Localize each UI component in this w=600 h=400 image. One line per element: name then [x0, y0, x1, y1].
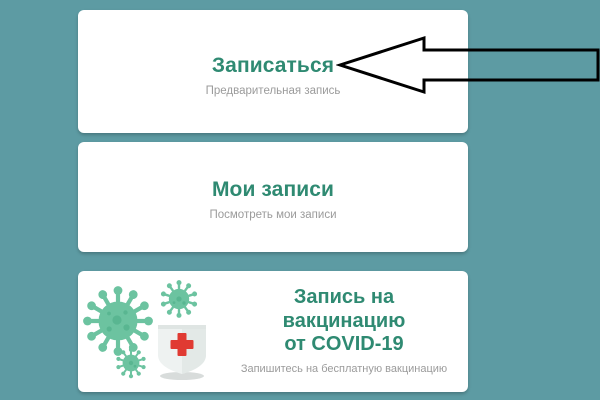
card-my-appointments-text: Мои записи Посмотреть мои записи — [78, 178, 468, 222]
covid-illustration-svg — [78, 273, 226, 391]
card-appointment[interactable]: Записаться Предварительная запись — [78, 10, 468, 133]
card-my-appointments-subtitle: Посмотреть мои записи — [78, 209, 468, 223]
virus-large-icon — [83, 286, 153, 356]
card-covid-title-line-1: Запись на — [226, 286, 462, 310]
card-my-appointments[interactable]: Мои записи Посмотреть мои записи — [78, 142, 468, 252]
card-my-appointments-title: Мои записи — [78, 178, 468, 202]
shield-with-red-cross-icon — [158, 325, 206, 374]
card-appointment-text: Записаться Предварительная запись — [78, 54, 468, 98]
virus-small-top-icon — [160, 280, 197, 318]
app-screen: Записаться Предварительная запись Мои за… — [0, 0, 600, 400]
card-covid-text: Запись на вакцинацию от COVID-19 Запишит… — [226, 286, 468, 377]
card-appointment-title: Записаться — [78, 54, 468, 78]
covid-virus-shield-illustration — [78, 273, 226, 391]
card-covid-title: Запись на вакцинацию от COVID-19 — [226, 286, 462, 357]
card-covid-title-line-2: вакцинацию — [226, 310, 462, 334]
card-covid-subtitle: Запишитесь на бесплатную вакцинацию — [226, 363, 462, 375]
card-appointment-subtitle: Предварительная запись — [78, 85, 468, 99]
card-covid-title-line-3: от COVID-19 — [226, 333, 462, 357]
card-covid-vaccination[interactable]: Запись на вакцинацию от COVID-19 Запишит… — [78, 271, 468, 392]
